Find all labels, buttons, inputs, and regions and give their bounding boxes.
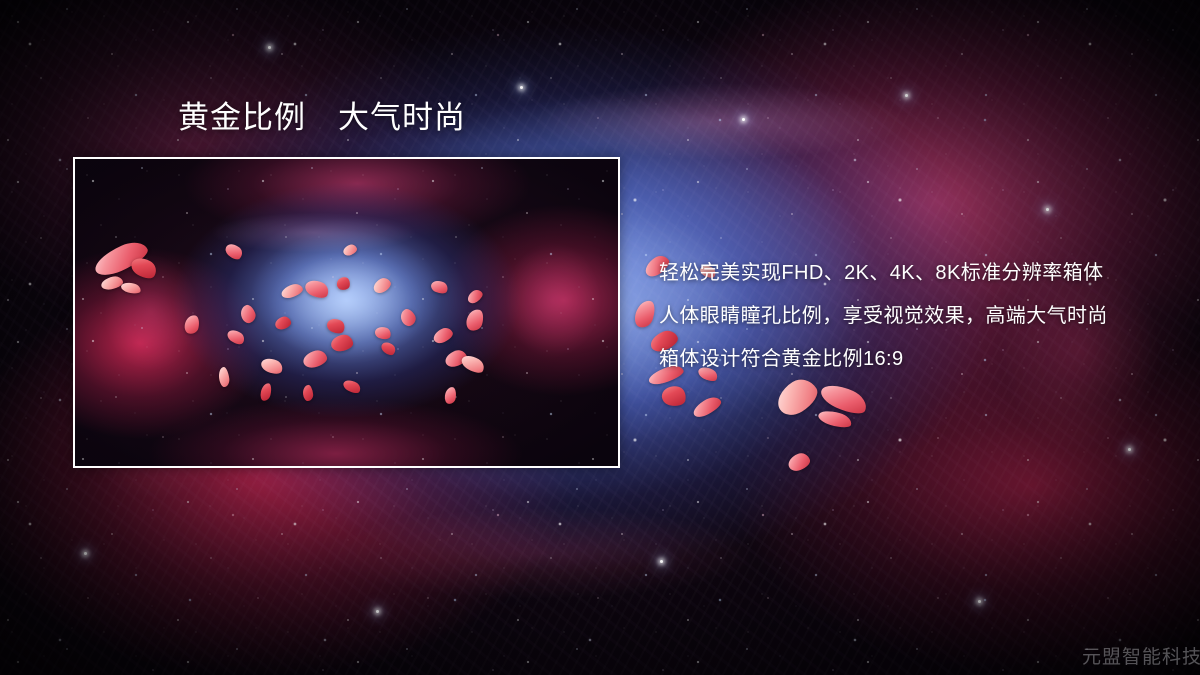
- panel-starfield-2: [75, 159, 618, 466]
- page-title: 黄金比例 大气时尚: [178, 98, 466, 138]
- body-line-3: 箱体设计符合黄金比例16:9: [659, 338, 1179, 381]
- body-text-block: 轻松完美实现FHD、2K、4K、8K标准分辨率箱体 人体眼睛瞳孔比例，享受视觉效…: [659, 252, 1179, 381]
- body-line-1: 轻松完美实现FHD、2K、4K、8K标准分辨率箱体: [659, 252, 1179, 295]
- nebula-preview-panel: [73, 157, 620, 468]
- watermark: 元盟智能科技: [1082, 642, 1200, 669]
- body-line-2: 人体眼睛瞳孔比例，享受视觉效果，高端大气时尚: [659, 295, 1179, 338]
- slide-canvas: 黄金比例 大气时尚: [0, 0, 1200, 675]
